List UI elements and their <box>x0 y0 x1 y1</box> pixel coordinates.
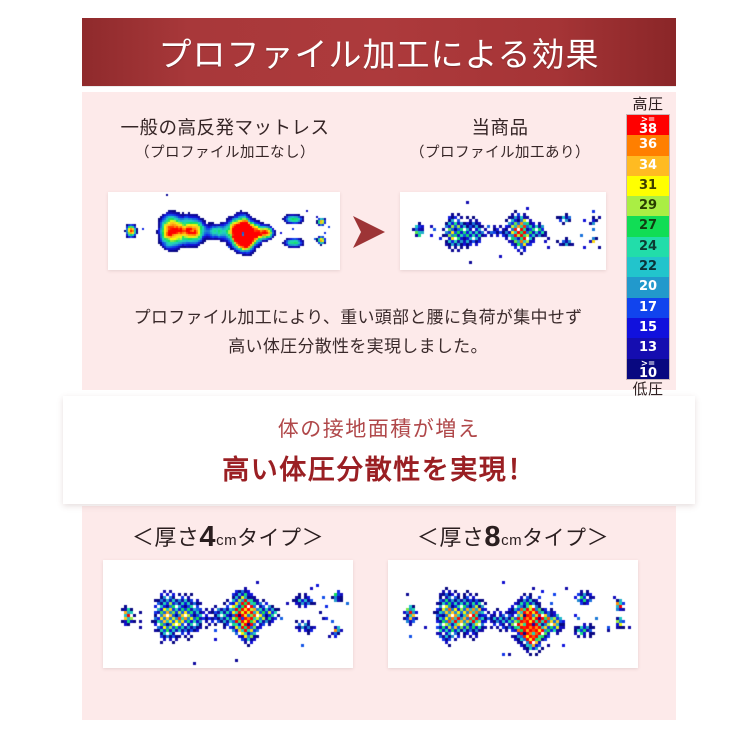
page-title: プロファイル加工による効果 <box>82 28 676 76</box>
left-map-caption-line2: （プロファイル加工なし） <box>100 141 350 165</box>
thickness-close-bracket-right: ＞ <box>587 525 610 550</box>
legend-stop-36: 36 <box>627 135 669 155</box>
thickness-number-right: 8 <box>484 521 501 553</box>
thickness-tail-right: タイプ <box>522 527 587 550</box>
legend-stop-value: 10 <box>627 368 669 380</box>
legend-stop-13: 13 <box>627 338 669 358</box>
highlight-callout-box: 体の接地面積が増え 高い体圧分散性を実現！ <box>63 396 695 504</box>
right-map-caption: 当商品 （プロファイル加工あり） <box>390 115 610 165</box>
pressure-map-our-product <box>400 192 606 270</box>
legend-stop-17: 17 <box>627 298 669 318</box>
left-map-caption-line1: 一般の高反発マットレス <box>100 115 350 141</box>
top-description-line2: 高い体圧分散性を実現しました。 <box>100 332 616 361</box>
top-description-line1: プロファイル加工により、重い頭部と腰に負荷が集中せず <box>100 303 616 332</box>
legend-stop-27: 27 <box>627 216 669 236</box>
legend-stop-22: 22 <box>627 257 669 277</box>
pressure-map-canvas <box>400 192 606 270</box>
legend-high-label: 高圧 <box>626 95 670 114</box>
pressure-map-4cm <box>103 560 353 668</box>
right-map-caption-line2: （プロファイル加工あり） <box>390 141 610 165</box>
legend-color-bars: >=383634312927242220171513>=10 <box>626 114 670 380</box>
thickness-caption-4cm: ＜厚さ4cmタイプ＞ <box>103 520 353 554</box>
top-description: プロファイル加工により、重い頭部と腰に負荷が集中せず 高い体圧分散性を実現しまし… <box>100 303 616 361</box>
pressure-map-canvas <box>388 560 638 668</box>
legend-stop-20: 20 <box>627 277 669 297</box>
pressure-map-8cm <box>388 560 638 668</box>
pressure-map-canvas <box>108 192 340 270</box>
thickness-caption-8cm: ＜厚さ8cmタイプ＞ <box>388 520 638 554</box>
thickness-open-bracket-right: ＜厚さ <box>417 525 485 550</box>
thickness-close-bracket-left: ＞ <box>302 525 325 550</box>
highlight-line1: 体の接地面積が増え <box>278 413 481 443</box>
legend-stop-29: 29 <box>627 196 669 216</box>
header-banner: プロファイル加工による効果 <box>82 18 676 86</box>
thickness-tail-left: タイプ <box>237 527 302 550</box>
thickness-open-bracket-left: ＜厚さ <box>132 525 200 550</box>
thickness-unit-left: cm <box>216 532 237 549</box>
legend-stop-38: >=38 <box>627 115 669 135</box>
highlight-line2: 高い体圧分散性を実現！ <box>222 448 536 487</box>
right-map-caption-line1: 当商品 <box>390 115 610 141</box>
legend-stop-value: 38 <box>627 124 669 136</box>
thickness-number-left: 4 <box>199 521 216 553</box>
legend-stop-34: 34 <box>627 156 669 176</box>
infographic-page: プロファイル加工による効果 一般の高反発マットレス （プロファイル加工なし） 当… <box>0 0 750 750</box>
pressure-map-standard-mattress <box>108 192 340 270</box>
left-map-caption: 一般の高反発マットレス （プロファイル加工なし） <box>100 115 350 165</box>
legend-stop-31: 31 <box>627 176 669 196</box>
arrow-right-icon <box>352 213 386 251</box>
legend-stop-15: 15 <box>627 318 669 338</box>
legend-stop-10: >=10 <box>627 359 669 379</box>
legend-stop-24: 24 <box>627 237 669 257</box>
thickness-unit-right: cm <box>501 532 522 549</box>
pressure-color-scale-legend: 高圧 >=383634312927242220171513>=10 低圧 <box>626 95 670 399</box>
pressure-map-canvas <box>103 560 353 668</box>
